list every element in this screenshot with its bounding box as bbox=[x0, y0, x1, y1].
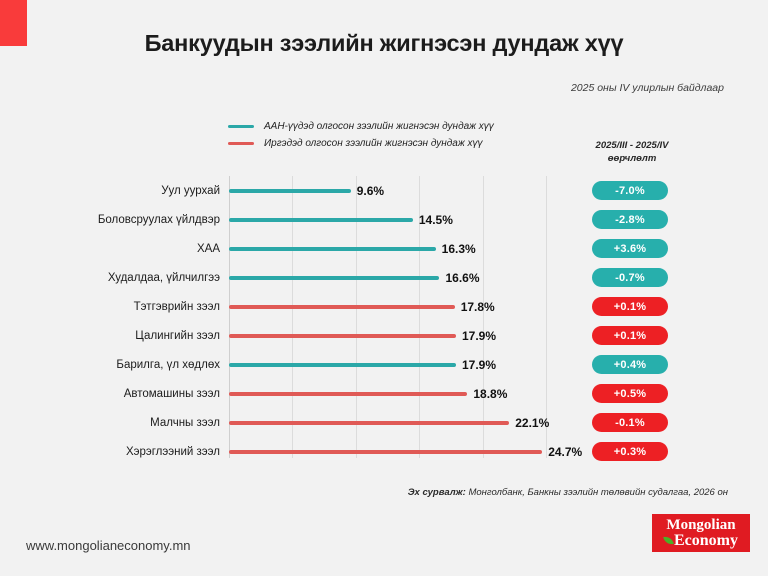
category-label: Малчны зээл bbox=[20, 417, 220, 429]
chart-row: Тэтгэврийн зээл17.8%+0.1% bbox=[0, 292, 768, 321]
chart-row: Боловсруулах үйлдвэр14.5%-2.8% bbox=[0, 205, 768, 234]
chart-legend: ААН-үүдэд олгосон зээлийн жигнэсэн дунда… bbox=[228, 118, 494, 152]
change-badge: -0.1% bbox=[592, 413, 668, 432]
chart-row: ХАА16.3%+3.6% bbox=[0, 234, 768, 263]
bar-value-label: 18.8% bbox=[473, 387, 507, 401]
bar-value-label: 17.8% bbox=[461, 300, 495, 314]
bar-value-label: 24.7% bbox=[548, 445, 582, 459]
change-badge: +3.6% bbox=[592, 239, 668, 258]
chart-row: Малчны зээл22.1%-0.1% bbox=[0, 408, 768, 437]
change-badge: +0.4% bbox=[592, 355, 668, 374]
bar-business bbox=[229, 247, 436, 251]
mongolian-economy-logo: Mongolian Economy bbox=[650, 512, 752, 554]
change-header-line1: 2025/III - 2025/IV bbox=[568, 140, 696, 153]
change-badge: -2.8% bbox=[592, 210, 668, 229]
chart-row: Худалдаа, үйлчилгээ16.6%-0.7% bbox=[0, 263, 768, 292]
subtitle: 2025 оны IV улирлын байдлаар bbox=[571, 82, 724, 94]
legend-label: ААН-үүдэд олгосон зээлийн жигнэсэн дунда… bbox=[264, 121, 494, 132]
bar-citizen bbox=[229, 450, 542, 454]
website-url[interactable]: www.mongolianeconomy.mn bbox=[26, 538, 191, 553]
category-label: Худалдаа, үйлчилгээ bbox=[20, 272, 220, 284]
category-label: Уул уурхай bbox=[20, 185, 220, 197]
infographic-canvas: Банкуудын зээлийн жигнэсэн дундаж хүү 20… bbox=[0, 0, 768, 576]
bar-value-label: 9.6% bbox=[357, 184, 384, 198]
bar-value-label: 22.1% bbox=[515, 416, 549, 430]
source-note: Эх сурвалж: Монголбанк, Банкны зээлийн т… bbox=[408, 487, 728, 498]
change-badge: +0.1% bbox=[592, 326, 668, 345]
bar-value-label: 17.9% bbox=[462, 358, 496, 372]
logo-bottom-line: Economy bbox=[664, 533, 738, 549]
chart-row: Цалингийн зээл17.9%+0.1% bbox=[0, 321, 768, 350]
leaf-icon bbox=[663, 535, 674, 546]
chart-row: Хэрэглээний зээл24.7%+0.3% bbox=[0, 437, 768, 466]
legend-swatch-business bbox=[228, 125, 254, 128]
bar-value-label: 14.5% bbox=[419, 213, 453, 227]
chart-row: Автомашины зээл18.8%+0.5% bbox=[0, 379, 768, 408]
bar-citizen bbox=[229, 305, 455, 309]
category-label: Боловсруулах үйлдвэр bbox=[20, 214, 220, 226]
logo-bottom-text: Economy bbox=[674, 533, 738, 549]
bar-value-label: 16.3% bbox=[442, 242, 476, 256]
change-badge: -0.7% bbox=[592, 268, 668, 287]
bar-business bbox=[229, 363, 456, 367]
bar-value-label: 16.6% bbox=[445, 271, 479, 285]
logo-top-text: Mongolian bbox=[666, 518, 735, 533]
chart-row: Барилга, үл хөдлөх17.9%+0.4% bbox=[0, 350, 768, 379]
change-badge: -7.0% bbox=[592, 181, 668, 200]
legend-item-citizen: Иргэдэд олгосон зээлийн жигнэсэн дундаж … bbox=[228, 135, 494, 152]
change-column-header: 2025/III - 2025/IV өөрчлөлт bbox=[568, 140, 696, 166]
source-text: Монголбанк, Банкны зээлийн төлөвийн суда… bbox=[468, 487, 728, 498]
category-label: Хэрэглээний зээл bbox=[20, 446, 220, 458]
bar-citizen bbox=[229, 392, 467, 396]
bar-chart: Уул уурхай9.6%-7.0%Боловсруулах үйлдвэр1… bbox=[0, 176, 768, 466]
category-label: Барилга, үл хөдлөх bbox=[20, 359, 220, 371]
legend-label: Иргэдэд олгосон зээлийн жигнэсэн дундаж … bbox=[264, 138, 482, 149]
bar-citizen bbox=[229, 421, 509, 425]
change-badge: +0.1% bbox=[592, 297, 668, 316]
bar-business bbox=[229, 189, 351, 193]
category-label: Автомашины зээл bbox=[20, 388, 220, 400]
change-badge: +0.3% bbox=[592, 442, 668, 461]
change-badge: +0.5% bbox=[592, 384, 668, 403]
chart-row: Уул уурхай9.6%-7.0% bbox=[0, 176, 768, 205]
bar-business bbox=[229, 218, 413, 222]
category-label: Тэтгэврийн зээл bbox=[20, 301, 220, 313]
legend-swatch-citizen bbox=[228, 142, 254, 145]
bar-value-label: 17.9% bbox=[462, 329, 496, 343]
bar-business bbox=[229, 276, 439, 280]
category-label: ХАА bbox=[20, 243, 220, 255]
legend-item-business: ААН-үүдэд олгосон зээлийн жигнэсэн дунда… bbox=[228, 118, 494, 135]
change-header-line2: өөрчлөлт bbox=[568, 153, 696, 166]
source-label: Эх сурвалж: bbox=[408, 487, 466, 498]
page-title: Банкуудын зээлийн жигнэсэн дундаж хүү bbox=[0, 30, 768, 57]
bar-citizen bbox=[229, 334, 456, 338]
category-label: Цалингийн зээл bbox=[20, 330, 220, 342]
